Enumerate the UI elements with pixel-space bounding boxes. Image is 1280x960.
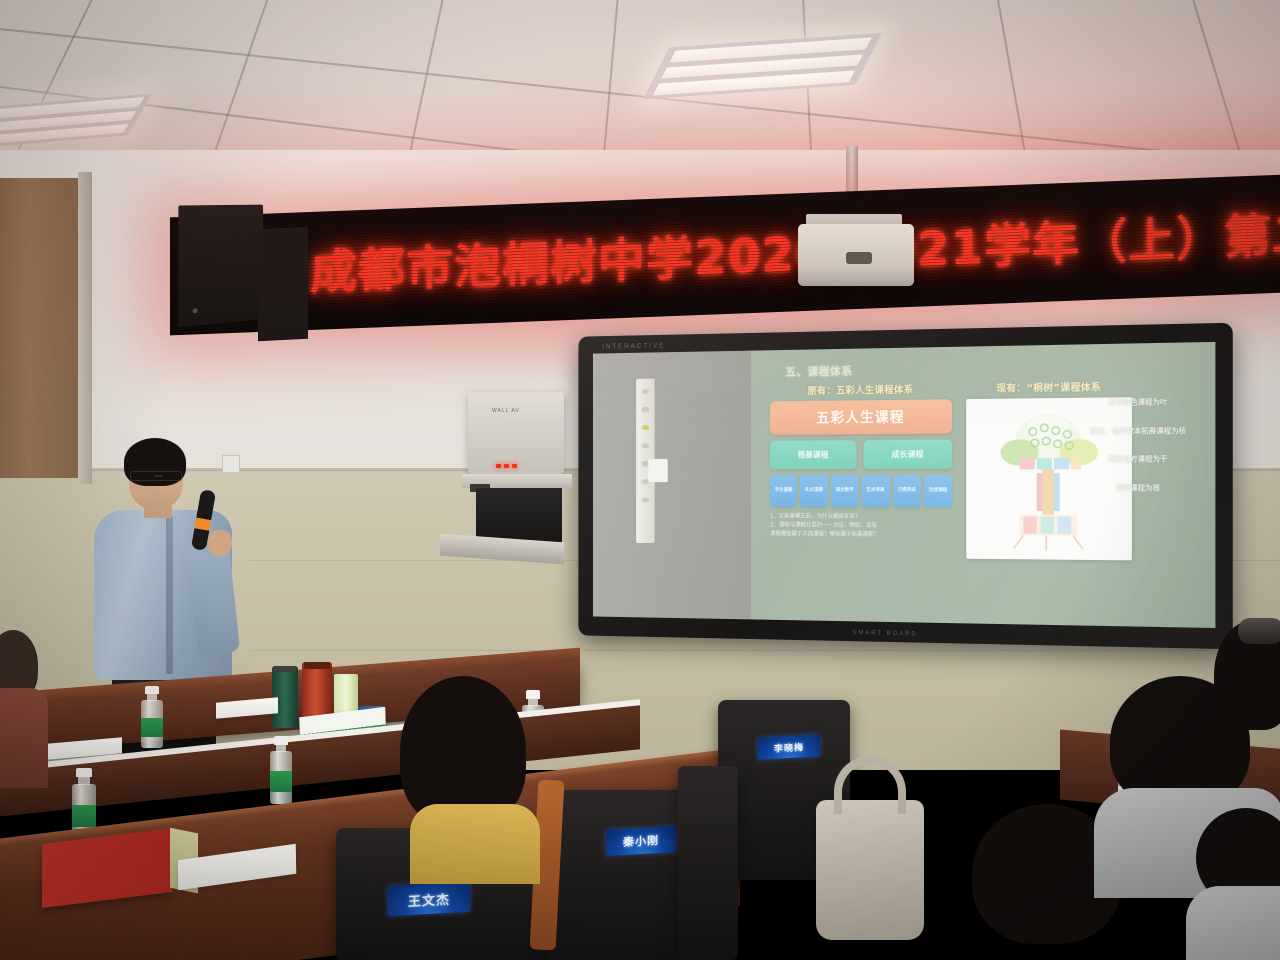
projector xyxy=(798,224,914,286)
slide-question-list: 1、五彩是哪五彩，为什么是这五彩？ 2、课程与课程分类的一一对应，例如：现有 课… xyxy=(770,513,952,541)
curriculum-small-box: 社团课程 xyxy=(924,475,953,507)
tree-annotation: 校本特色课程为叶 xyxy=(1066,396,1211,408)
ceiling-light-panel-left xyxy=(0,93,152,148)
handbag[interactable] xyxy=(816,800,924,940)
chair-nametag-text: 李晓梅 xyxy=(774,740,804,755)
slide-title: 五、课程体系 xyxy=(785,357,1204,380)
av-cabinet[interactable]: WALL AV xyxy=(468,392,564,474)
chair-nametag-text: 秦小刚 xyxy=(623,832,659,850)
conference-room-photo: 成都市泡桐树中学2020-2021学年（上）第二次 INTERACTIVE SM… xyxy=(0,0,1280,960)
interactive-whiteboard[interactable]: INTERACTIVE SMART BOARD 五、课程体系 原有：五彩人生课程… xyxy=(578,323,1232,650)
curriculum-small-box: 语文数学 xyxy=(831,475,859,507)
chair-nametag-text: 王文杰 xyxy=(408,888,450,909)
screen-unlit-area xyxy=(593,351,751,620)
projector-lens-icon xyxy=(846,252,872,264)
audience-member xyxy=(0,630,48,760)
ceiling-light-panel-right xyxy=(643,33,882,99)
av-status-indicator-icon xyxy=(496,464,517,468)
curriculum-mid-box: 根基课程 xyxy=(770,440,857,469)
glasses-icon xyxy=(130,471,182,481)
audience-member xyxy=(1196,808,1280,960)
slide-question: 课程哪些属于方向课程？哪些属于拓展课程？ xyxy=(770,530,952,540)
door-frame xyxy=(78,172,92,484)
chair-nametag: 秦小刚 xyxy=(606,826,676,856)
curriculum-mid-box: 成长课程 xyxy=(863,440,952,469)
chair-nametag: 王文杰 xyxy=(388,882,470,916)
slide-left-column: 原有：五彩人生课程体系 五彩人生课程 根基课程 成长课程 学生基础 礼仪道德 语… xyxy=(770,381,952,558)
conference-chair[interactable] xyxy=(678,766,738,960)
tree-annotation: 国家、地方校本拓展课程为枝 xyxy=(1066,425,1211,437)
whiteboard-brand-top: INTERACTIVE xyxy=(602,343,665,351)
tree-annotation: 国家地方课程为干 xyxy=(1066,454,1211,465)
curriculum-small-row: 学生基础 礼仪道德 语文数学 艺术审美 习惯养成 社团课程 xyxy=(770,475,952,507)
audience-member xyxy=(382,676,552,876)
curriculum-small-box: 艺术审美 xyxy=(861,475,889,507)
door[interactable] xyxy=(0,178,86,478)
water-bottle[interactable] xyxy=(140,686,164,748)
led-banner-text: 成都市泡桐树中学2020-2021学年（上）第二次 xyxy=(310,193,1280,303)
tree-annotations: 校本特色课程为叶 国家、地方校本拓展课程为枝 国家地方课程为干 德育课程为根 xyxy=(1066,396,1211,493)
presentation-slide: 五、课程体系 原有：五彩人生课程体系 五彩人生课程 根基课程 成长课程 学生基础… xyxy=(751,342,1216,628)
wall-speaker-right xyxy=(258,227,308,342)
camera-device xyxy=(1238,618,1280,644)
pen-tray-knob[interactable] xyxy=(648,458,668,482)
curriculum-mid-row: 根基课程 成长课程 xyxy=(770,440,952,470)
tree-annotation: 德育课程为根 xyxy=(1066,482,1211,493)
projection-screen[interactable]: 五、课程体系 原有：五彩人生课程体系 五彩人生课程 根基课程 成长课程 学生基础… xyxy=(593,342,1215,628)
curriculum-top-box: 五彩人生课程 xyxy=(770,399,952,435)
left-column-heading: 原有：五彩人生课程体系 xyxy=(770,381,952,397)
right-column-heading: 现有：“桐树”课程体系 xyxy=(966,379,1132,395)
chair-nametag: 李晓梅 xyxy=(758,734,820,759)
curriculum-small-box: 礼仪道德 xyxy=(800,475,828,507)
av-cabinet-brand: WALL AV xyxy=(492,408,520,414)
wall-speaker-left xyxy=(178,205,263,328)
curriculum-small-box: 学生基础 xyxy=(770,475,797,507)
water-bottle[interactable] xyxy=(268,736,294,804)
curriculum-small-box: 习惯养成 xyxy=(893,475,921,507)
presenter-hand xyxy=(208,530,232,556)
